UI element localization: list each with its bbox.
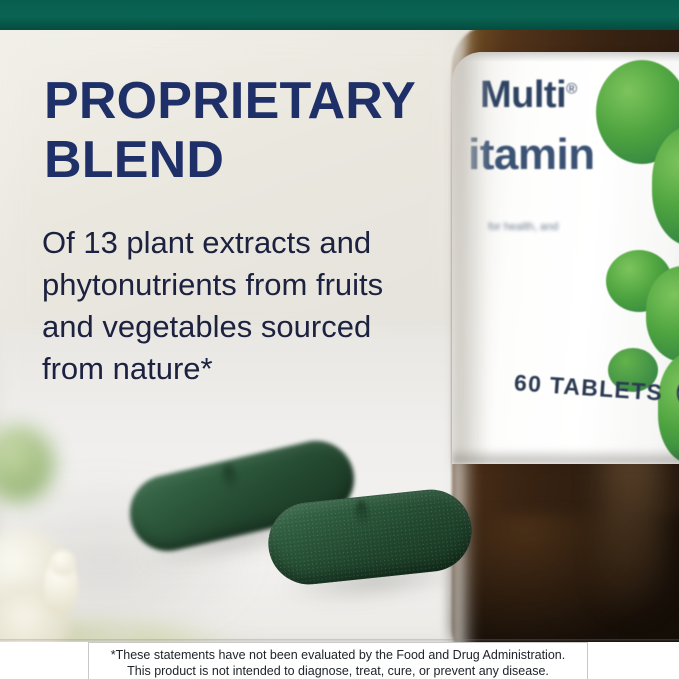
page-title-line-2: BLEND [44,131,474,190]
fda-disclaimer-line-1: *These statements have not been evaluate… [95,647,581,663]
label-brand-name-top: Multi® [480,74,577,117]
fda-disclaimer: *These statements have not been evaluate… [88,642,588,679]
description-line-1: Of 13 plant extracts and [42,222,454,264]
top-accent-bar-gradient [0,0,679,30]
top-accent-bar [0,0,679,30]
product-infographic: Multi® itamin for health, and 60 TABLETS [0,0,679,679]
label-bottom-shading [452,448,679,464]
label-subtext: for health, and [488,220,618,234]
fda-disclaimer-line-2: This product is not intended to diagnose… [95,663,581,679]
description-line-2: phytonutrients from fruits [42,264,454,306]
description-line-3: and vegetables sourced [42,306,454,348]
amber-supplement-bottle: Multi® itamin for health, and 60 TABLETS [452,30,679,642]
page-title-line-1: PROPRIETARY [44,72,474,131]
description-text: Of 13 plant extracts and phytonutrients … [42,222,454,390]
footer: *These statements have not been evaluate… [0,642,679,679]
bottle-label: Multi® itamin for health, and 60 TABLETS [452,52,679,464]
label-brand-word: Multi [480,74,566,116]
registered-trademark-icon: ® [566,80,577,97]
white-flower-bud [50,550,76,576]
page-title: PROPRIETARY BLEND [44,72,474,190]
label-tablet-count-text: 60 TABLETS [513,369,664,405]
description-line-4: from nature* [42,348,454,390]
